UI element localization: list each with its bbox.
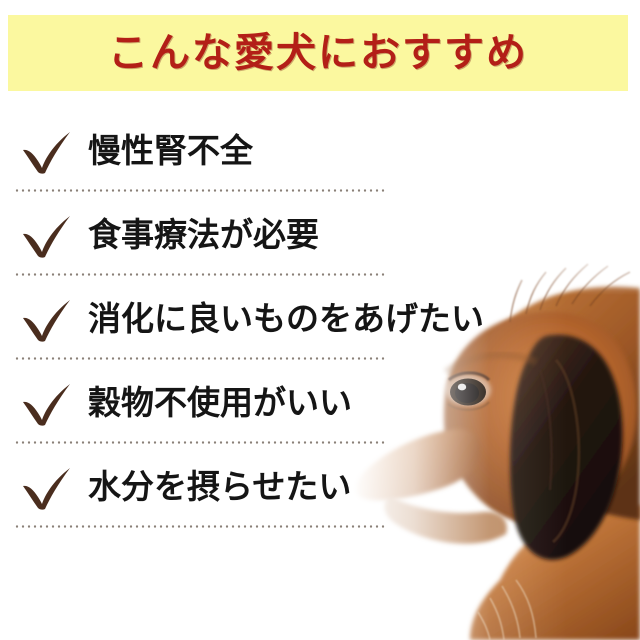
- check-mark-icon: [18, 125, 76, 175]
- list-item-label: 消化に良いものをあげたい: [88, 302, 484, 335]
- check-mark-icon: [18, 461, 76, 511]
- list-item: 穀物不使用がいい: [0, 360, 640, 444]
- page-title: こんな愛犬におすすめ: [108, 33, 528, 73]
- check-mark-icon: [18, 377, 76, 427]
- promo-banner-page: こんな愛犬におすすめ 慢性腎不全 食事療法が必要: [0, 0, 640, 640]
- list-item: 水分を摂らせたい: [0, 444, 640, 528]
- check-mark-icon: [18, 209, 76, 259]
- recommendation-checklist: 慢性腎不全 食事療法が必要 消化に良いものをあげたい: [0, 108, 640, 528]
- divider: [14, 525, 386, 528]
- list-item-label: 穀物不使用がいい: [88, 386, 352, 419]
- list-item-label: 水分を摂らせたい: [88, 470, 351, 503]
- list-item: 食事療法が必要: [0, 192, 640, 276]
- list-item-label: 食事療法が必要: [88, 218, 319, 251]
- list-item-label: 慢性腎不全: [88, 134, 253, 167]
- check-mark-icon: [18, 293, 76, 343]
- list-item: 慢性腎不全: [0, 108, 640, 192]
- list-item: 消化に良いものをあげたい: [0, 276, 640, 360]
- header-banner: こんな愛犬におすすめ: [8, 15, 628, 91]
